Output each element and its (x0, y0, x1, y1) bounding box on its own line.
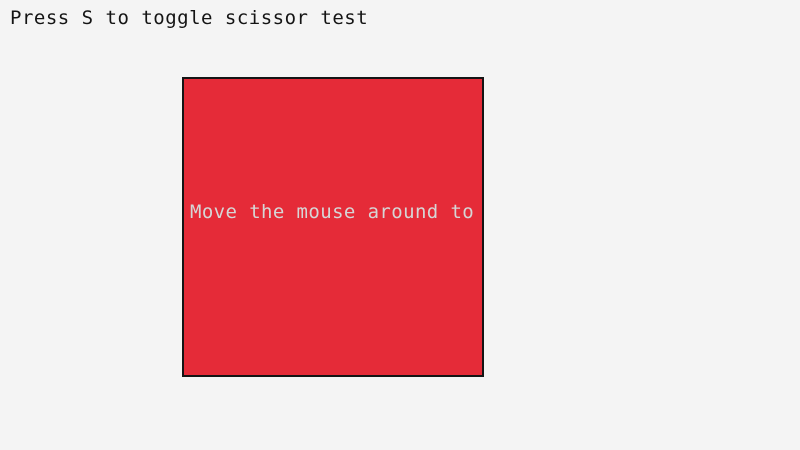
scissor-test-rectangle[interactable]: Move the mouse around to r (182, 77, 484, 377)
scissor-toggle-instruction: Press S to toggle scissor test (10, 6, 368, 30)
app-canvas: Press S to toggle scissor test Move the … (0, 0, 800, 450)
scissor-clipped-message: Move the mouse around to r (190, 201, 484, 223)
